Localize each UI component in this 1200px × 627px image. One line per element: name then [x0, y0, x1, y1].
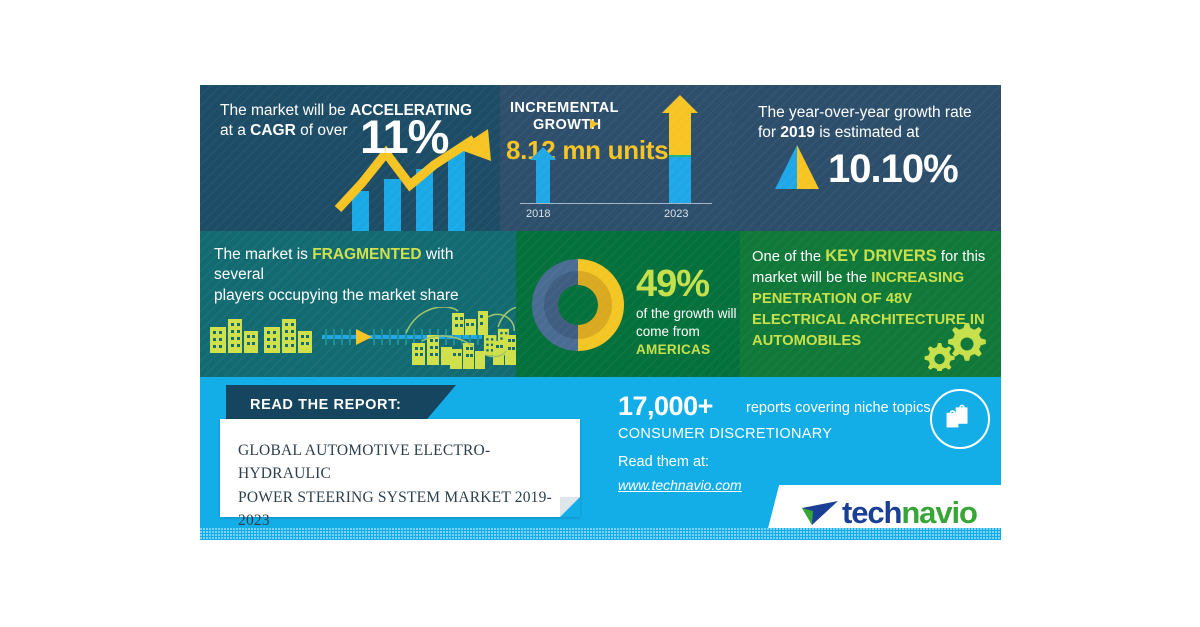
panel-key-drivers: One of the KEY DRIVERS for this market w…	[740, 231, 1001, 377]
gears-icon	[921, 319, 987, 371]
fragmented-cluster	[400, 307, 516, 377]
yoy-value: 10.10%	[828, 143, 958, 196]
panel-regional-share: 49% of the growth will come from AMERICA…	[516, 231, 740, 377]
yoy-year: 2019	[780, 124, 814, 141]
panel-fragmented-market: The market is FRAGMENTED with several pl…	[200, 231, 516, 377]
report-category: CONSUMER DISCRETIONARY	[618, 425, 832, 444]
drivers-highlight-1: KEY DRIVERS	[825, 247, 937, 265]
read-the-report-label: READ THE REPORT:	[250, 396, 401, 415]
donut-region: AMERICAS	[636, 342, 710, 357]
page-fold-corner	[560, 497, 580, 517]
cagr-line2-pre: at a	[220, 122, 250, 139]
frag-line1-bold: FRAGMENTED	[312, 246, 421, 263]
frag-line1-pre: The market is	[214, 246, 312, 263]
logo-text-tech: tech	[842, 495, 901, 530]
panel-cagr: The market will be ACCELERATING at a CAG…	[200, 85, 500, 231]
yoy-line2-post: is estimated at	[815, 124, 919, 141]
panel-grid: The market will be ACCELERATING at a CAG…	[200, 85, 1001, 540]
read-them-at-label: Read them at:	[618, 453, 709, 472]
drivers-pre: One of the	[752, 249, 825, 265]
growth-triangle-icon	[774, 145, 820, 189]
incremental-year-start: 2018	[526, 207, 550, 222]
incremental-axis-line	[520, 203, 712, 204]
panel-yoy-growth: The year-over-year growth rate for 2019 …	[732, 85, 1001, 231]
incremental-year-end: 2023	[664, 207, 688, 222]
yoy-line1: The year-over-year growth rate	[758, 104, 972, 121]
halftone-strip	[200, 528, 1001, 540]
cagr-line2-bold: CAGR	[250, 122, 296, 139]
flow-arrow-icon	[356, 329, 372, 345]
yoy-line2-pre: for	[758, 124, 780, 141]
logo-text-navio: navio	[901, 495, 976, 530]
report-count-label: reports covering niche topics	[746, 399, 931, 418]
cagr-line1-pre: The market will be	[220, 102, 350, 119]
infographic-canvas: The market will be ACCELERATING at a CAG…	[0, 0, 1200, 627]
donut-subtext: of the growth will come from AMERICAS	[636, 305, 740, 359]
donut-chart	[530, 257, 626, 353]
report-title: GLOBAL AUTOMOTIVE ELECTRO-HYDRAULIC POWE…	[238, 439, 568, 532]
incremental-bar-2023	[662, 95, 698, 203]
cagr-value: 11%	[360, 113, 448, 160]
report-title-line2: POWER STEERING SYSTEM MARKET 2019-2023	[238, 489, 552, 529]
technavio-wordmark: technavio	[842, 495, 977, 531]
incremental-bar-2018	[530, 147, 556, 203]
report-title-card[interactable]: GLOBAL AUTOMOTIVE ELECTRO-HYDRAULIC POWE…	[220, 419, 580, 517]
technavio-mark-icon	[800, 497, 840, 531]
frag-line2: players occupying the market share	[214, 287, 459, 304]
read-the-report-tab: READ THE REPORT:	[226, 385, 456, 423]
donut-hole	[558, 285, 598, 325]
technavio-logo[interactable]: technavio	[800, 495, 1000, 531]
fragmented-description: The market is FRAGMENTED with several pl…	[214, 245, 506, 306]
shopping-bags-icon	[932, 391, 983, 442]
donut-value: 49%	[636, 259, 709, 309]
panel-incremental-growth: INCREMENTAL GROWTH 8.12 mn units 2018 20…	[500, 85, 732, 231]
website-link[interactable]: www.technavio.com	[618, 476, 742, 494]
report-title-line1: GLOBAL AUTOMOTIVE ELECTRO-HYDRAULIC	[238, 442, 490, 482]
play-triangle-icon	[590, 119, 598, 129]
yoy-description: The year-over-year growth rate for 2019 …	[758, 103, 988, 144]
donut-sub-line2: come from	[636, 324, 700, 339]
report-count: 17,000+	[618, 389, 713, 425]
donut-sub-line1: of the growth will	[636, 306, 737, 321]
panel-footer: READ THE REPORT: GLOBAL AUTOMOTIVE ELECT…	[200, 377, 1001, 540]
shopping-bags-badge	[930, 389, 990, 449]
